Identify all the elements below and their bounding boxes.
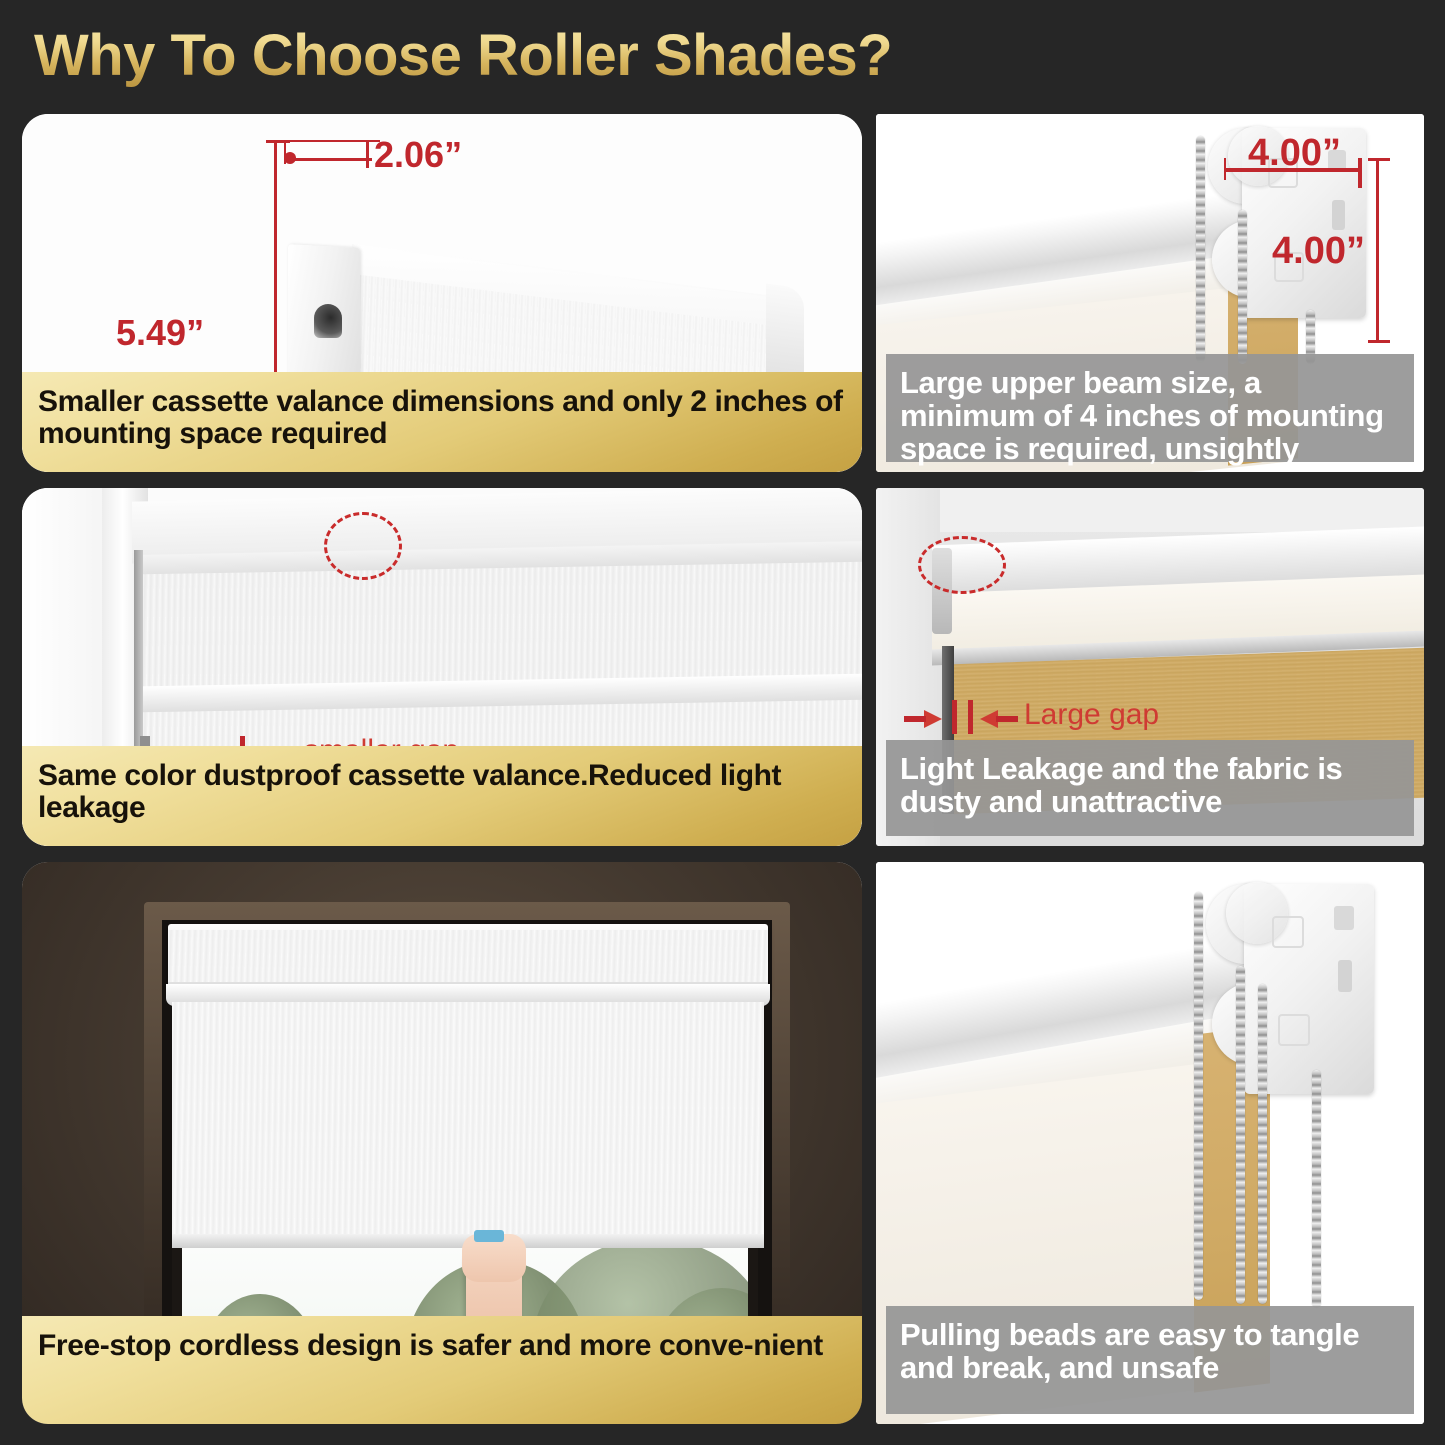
height-dimension-label: 5.49” <box>116 312 204 354</box>
comparison-panel-2: 4.00” 4.00” Large upper beam size, a min… <box>876 114 1424 472</box>
comparison-panel-5: Free-stop cordless design is safer and m… <box>22 862 862 1424</box>
bead-chain[interactable] <box>1258 984 1267 1304</box>
panel-4-caption: Light Leakage and the fabric is dusty an… <box>886 740 1414 836</box>
panel-2-caption: Large upper beam size, a minimum of 4 in… <box>886 354 1414 462</box>
beam-width-dimension-label: 4.00” <box>1248 132 1341 175</box>
width-dimension-label: 2.06” <box>374 134 462 176</box>
highlight-circle-icon <box>918 536 1006 594</box>
comparison-panel-1: 2.06” 5.49” Smaller cassette valance dim… <box>22 114 862 472</box>
bead-chain[interactable] <box>1236 966 1245 1304</box>
panel-3-caption: Same color dustproof cassette valance.Re… <box>22 746 862 846</box>
comparison-panel-6: Pulling beads are easy to tangle and bre… <box>876 862 1424 1424</box>
bottom-rail-grip <box>474 1230 504 1242</box>
beam-height-dimension-label: 4.00” <box>1272 230 1365 273</box>
comparison-panel-3: smaller gap Same color dustproof cassett… <box>22 488 862 846</box>
comparison-panel-4: Large gap Light Leakage and the fabric i… <box>876 488 1424 846</box>
panel-5-caption: Free-stop cordless design is safer and m… <box>22 1316 862 1424</box>
panel-1-caption: Smaller cassette valance dimensions and … <box>22 372 862 472</box>
bead-chain[interactable] <box>1312 1070 1321 1308</box>
page-title: Why To Choose Roller Shades? <box>34 22 892 89</box>
large-gap-label: Large gap <box>1024 698 1159 732</box>
highlight-circle-icon <box>324 512 402 580</box>
bracket-slot-icon <box>314 304 342 338</box>
panel-6-caption: Pulling beads are easy to tangle and bre… <box>886 1306 1414 1414</box>
bead-chain[interactable] <box>1194 892 1203 1300</box>
